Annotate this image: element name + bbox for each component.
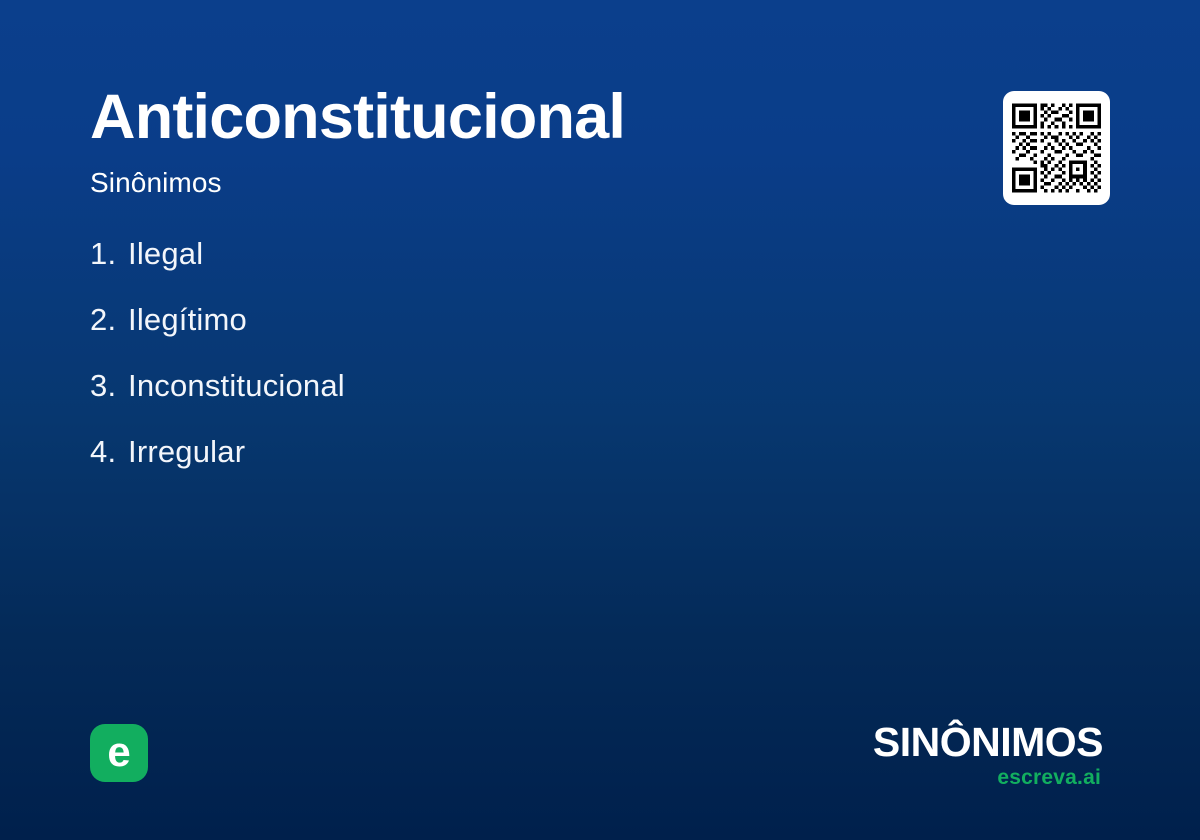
list-item-term: Irregular (128, 434, 245, 469)
qr-code-panel[interactable] (1003, 91, 1110, 205)
brand-wordmark[interactable]: SINÔNIMOS escreva.ai (873, 722, 1103, 788)
page-title: Anticonstitucional (90, 86, 950, 149)
qr-code-icon (1012, 101, 1101, 195)
list-item-index: 1. (90, 238, 128, 269)
list-item-term: Ilegal (128, 236, 203, 271)
brand-mark-letter: e (107, 731, 130, 773)
synonym-list: 1.Ilegal 2.Ilegítimo 3.Inconstitucional … (90, 238, 910, 502)
list-item-term: Inconstitucional (128, 368, 345, 403)
page-subtitle: Sinônimos (90, 167, 950, 199)
escreva-logo-icon[interactable]: e (90, 724, 148, 782)
list-item: 4.Irregular (90, 436, 910, 467)
list-item-index: 2. (90, 304, 128, 335)
list-item: 2.Ilegítimo (90, 304, 910, 335)
list-item: 1.Ilegal (90, 238, 910, 269)
list-item-index: 3. (90, 370, 128, 401)
wordmark-primary: SINÔNIMOS (873, 722, 1103, 763)
card-header: Anticonstitucional Sinônimos (90, 86, 950, 199)
synonym-card: Anticonstitucional Sinônimos 1.Ilegal 2.… (0, 0, 1200, 840)
list-item-term: Ilegítimo (128, 302, 247, 337)
wordmark-secondary: escreva.ai (873, 767, 1101, 788)
list-item-index: 4. (90, 436, 128, 467)
list-item: 3.Inconstitucional (90, 370, 910, 401)
